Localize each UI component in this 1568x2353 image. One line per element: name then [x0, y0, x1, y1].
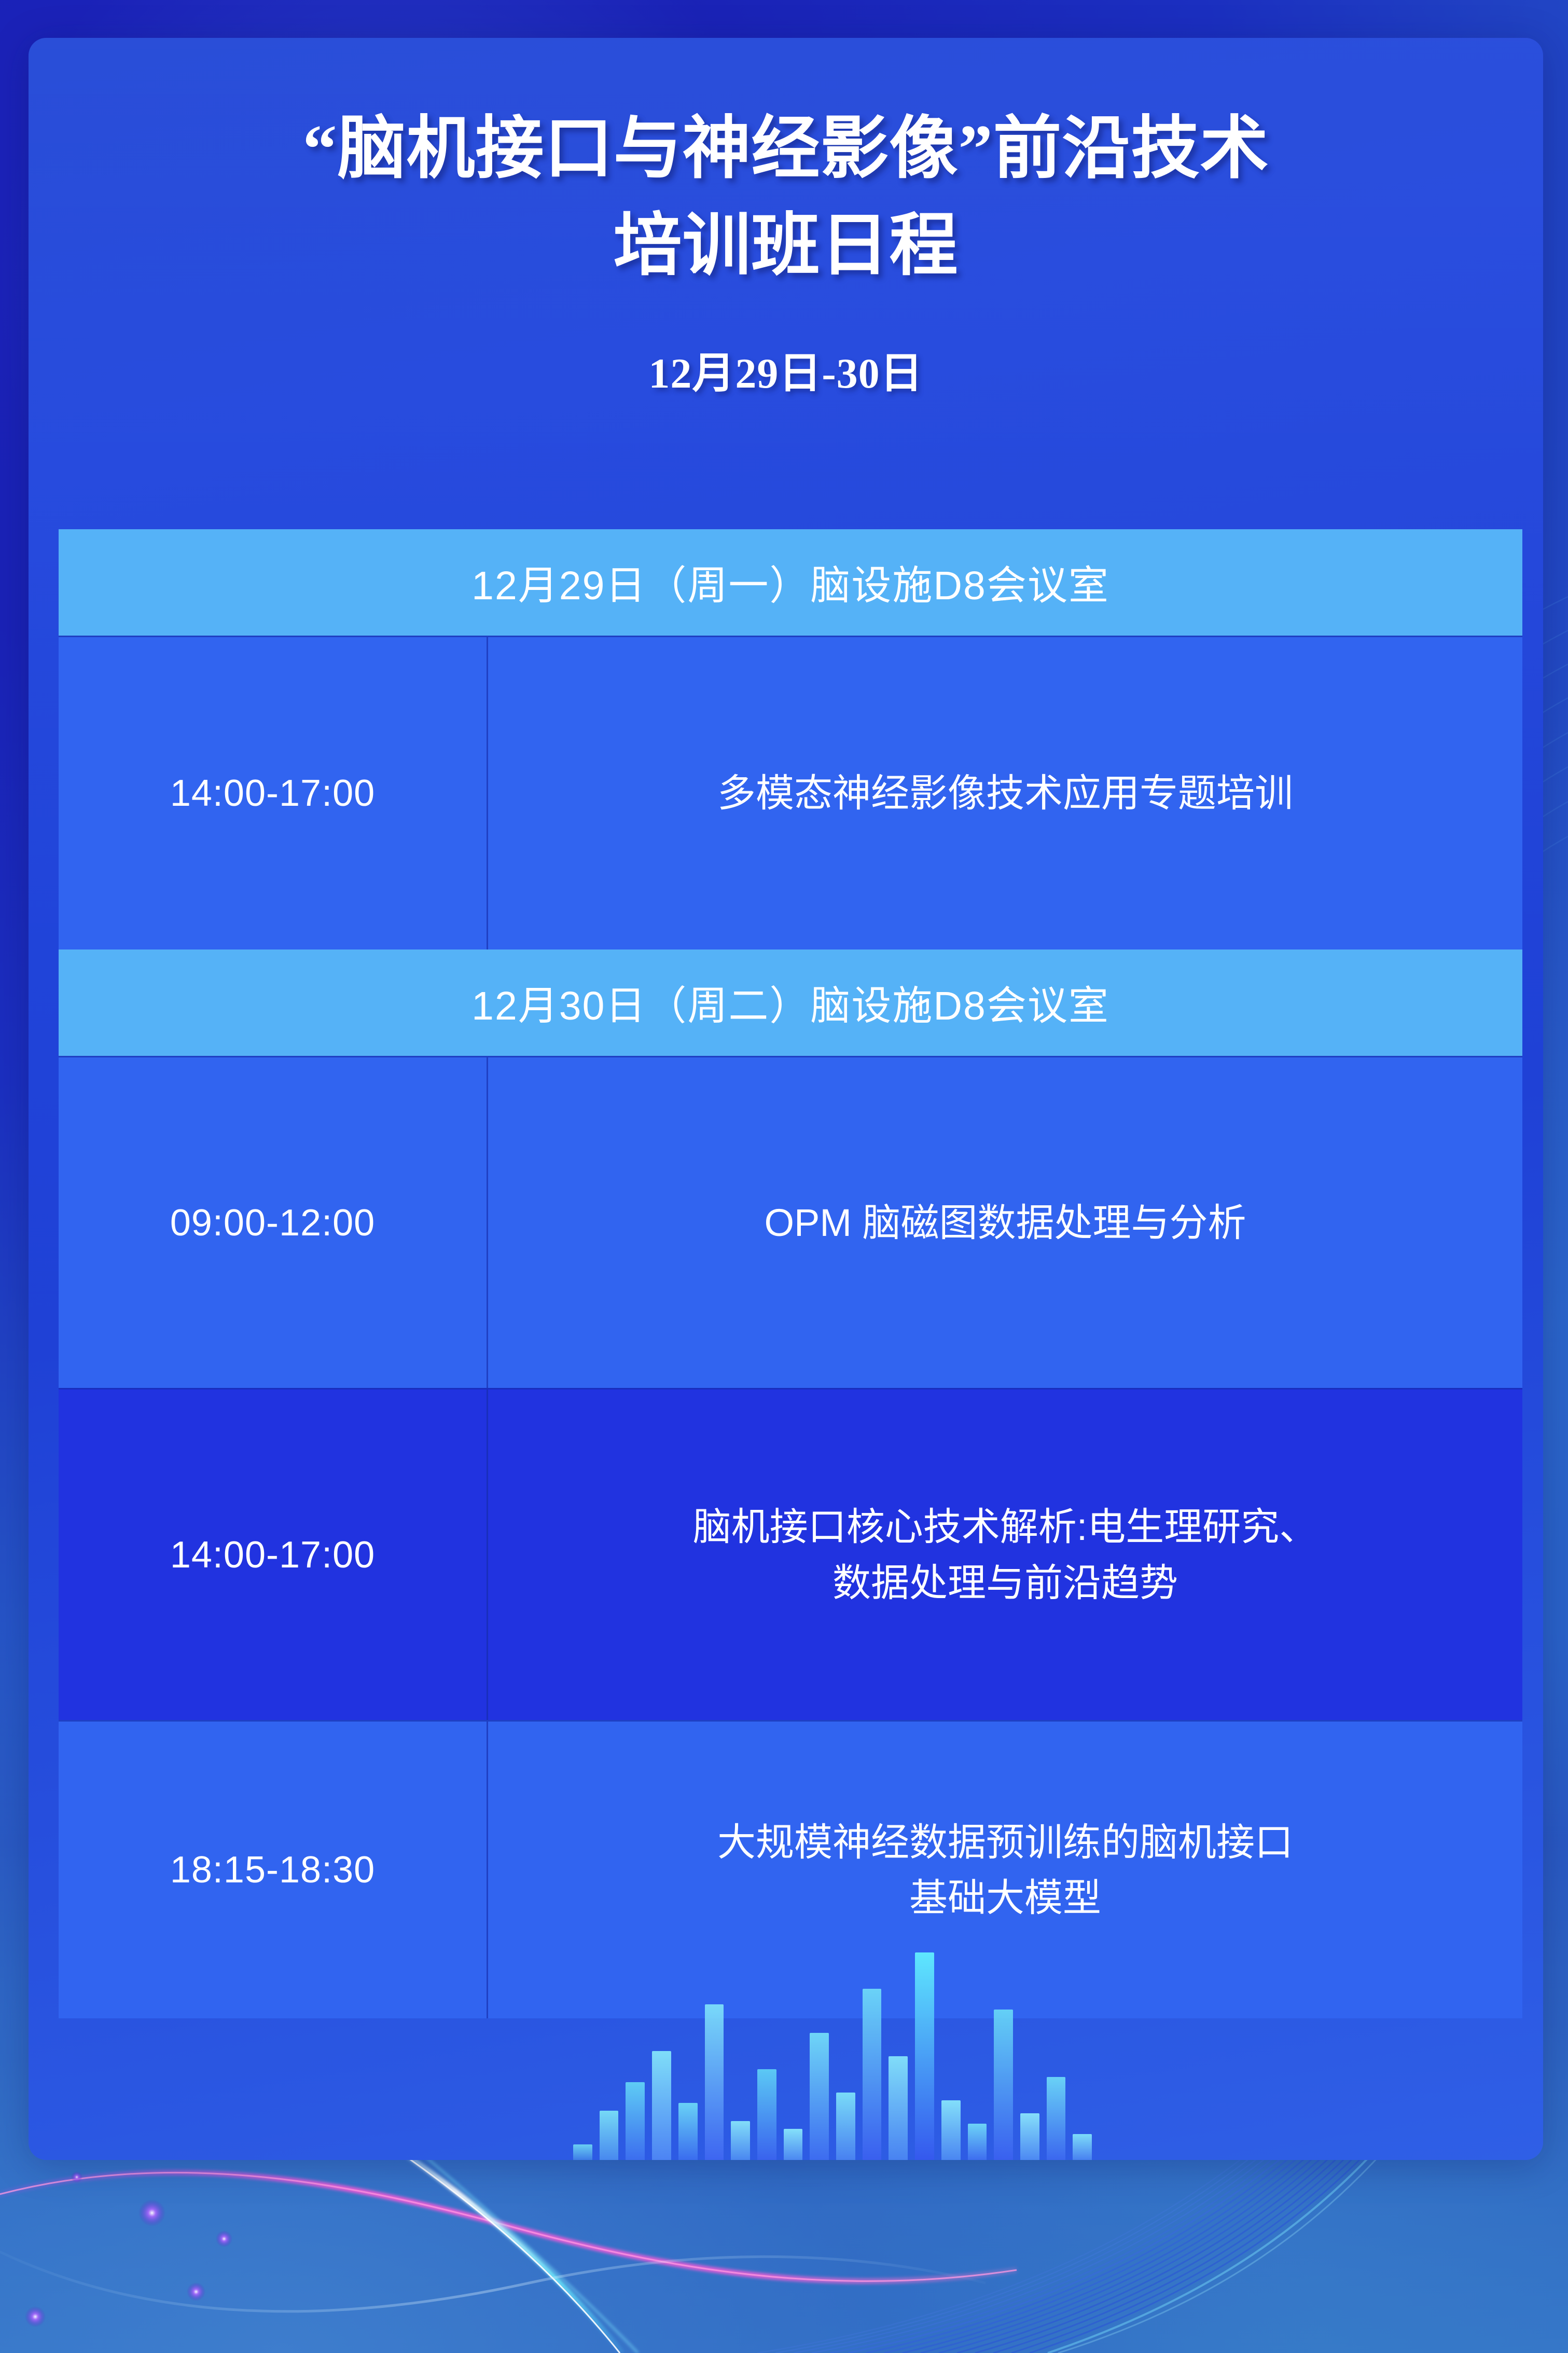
equalizer-bar — [968, 2124, 987, 2160]
session-row: 09:00-12:00OPM 脑磁图数据处理与分析 — [59, 1056, 1522, 1388]
day-header-1: 12月29日（周一）脑设施D8会议室 — [59, 529, 1522, 636]
session-topic: 多模态神经影像技术应用专题培训 — [488, 637, 1522, 950]
equalizer-bar — [1020, 2113, 1039, 2160]
session-time: 14:00-17:00 — [59, 637, 488, 950]
day-header-2: 12月30日（周二）脑设施D8会议室 — [59, 950, 1522, 1056]
equalizer-bar — [1073, 2134, 1092, 2160]
equalizer-bar — [705, 2004, 724, 2160]
session-time: 14:00-17:00 — [59, 1389, 488, 1720]
equalizer-bar — [731, 2121, 750, 2160]
day-header-label: 12月30日（周二）脑设施D8会议室 — [471, 974, 1109, 1031]
equalizer-bar — [889, 2056, 908, 2160]
equalizer-bars-decoration — [573, 1916, 1092, 2160]
session-topic: OPM 脑磁图数据处理与分析 — [488, 1057, 1522, 1388]
session-time: 18:15-18:30 — [59, 1722, 488, 2018]
poster-panel: “脑机接口与神经影像”前沿技术 培训班日程 12月29日-30日 12月29日（… — [29, 38, 1543, 2160]
page-title: “脑机接口与神经影像”前沿技术 培训班日程 — [96, 100, 1476, 295]
equalizer-bar — [573, 2144, 592, 2160]
session-row: 14:00-17:00脑机接口核心技术解析:电生理研究、 数据处理与前沿趋势 — [59, 1388, 1522, 1720]
equalizer-bar — [941, 2100, 961, 2160]
day-header-label: 12月29日（周一）脑设施D8会议室 — [471, 554, 1109, 611]
session-topic: 脑机接口核心技术解析:电生理研究、 数据处理与前沿趋势 — [488, 1389, 1522, 1720]
schedule-table: 12月29日（周一）脑设施D8会议室14:00-17:00多模态神经影像技术应用… — [59, 529, 1522, 2018]
equalizer-bar — [784, 2129, 803, 2160]
equalizer-bar — [652, 2051, 671, 2160]
equalizer-bar — [757, 2069, 776, 2160]
equalizer-bar — [678, 2103, 698, 2160]
session-row: 14:00-17:00多模态神经影像技术应用专题培训 — [59, 636, 1522, 950]
session-time: 09:00-12:00 — [59, 1057, 488, 1388]
equalizer-bar — [915, 1952, 934, 2160]
equalizer-bar — [994, 2010, 1013, 2160]
poster-date-range: 12月29日-30日 — [96, 338, 1476, 400]
equalizer-bar — [1047, 2077, 1066, 2160]
equalizer-bar — [810, 2033, 829, 2160]
equalizer-bar — [863, 1989, 882, 2160]
equalizer-bar — [600, 2111, 619, 2160]
equalizer-bar — [626, 2082, 645, 2160]
equalizer-bar — [836, 2093, 855, 2160]
poster-header: “脑机接口与神经影像”前沿技术 培训班日程 12月29日-30日 — [29, 38, 1543, 400]
